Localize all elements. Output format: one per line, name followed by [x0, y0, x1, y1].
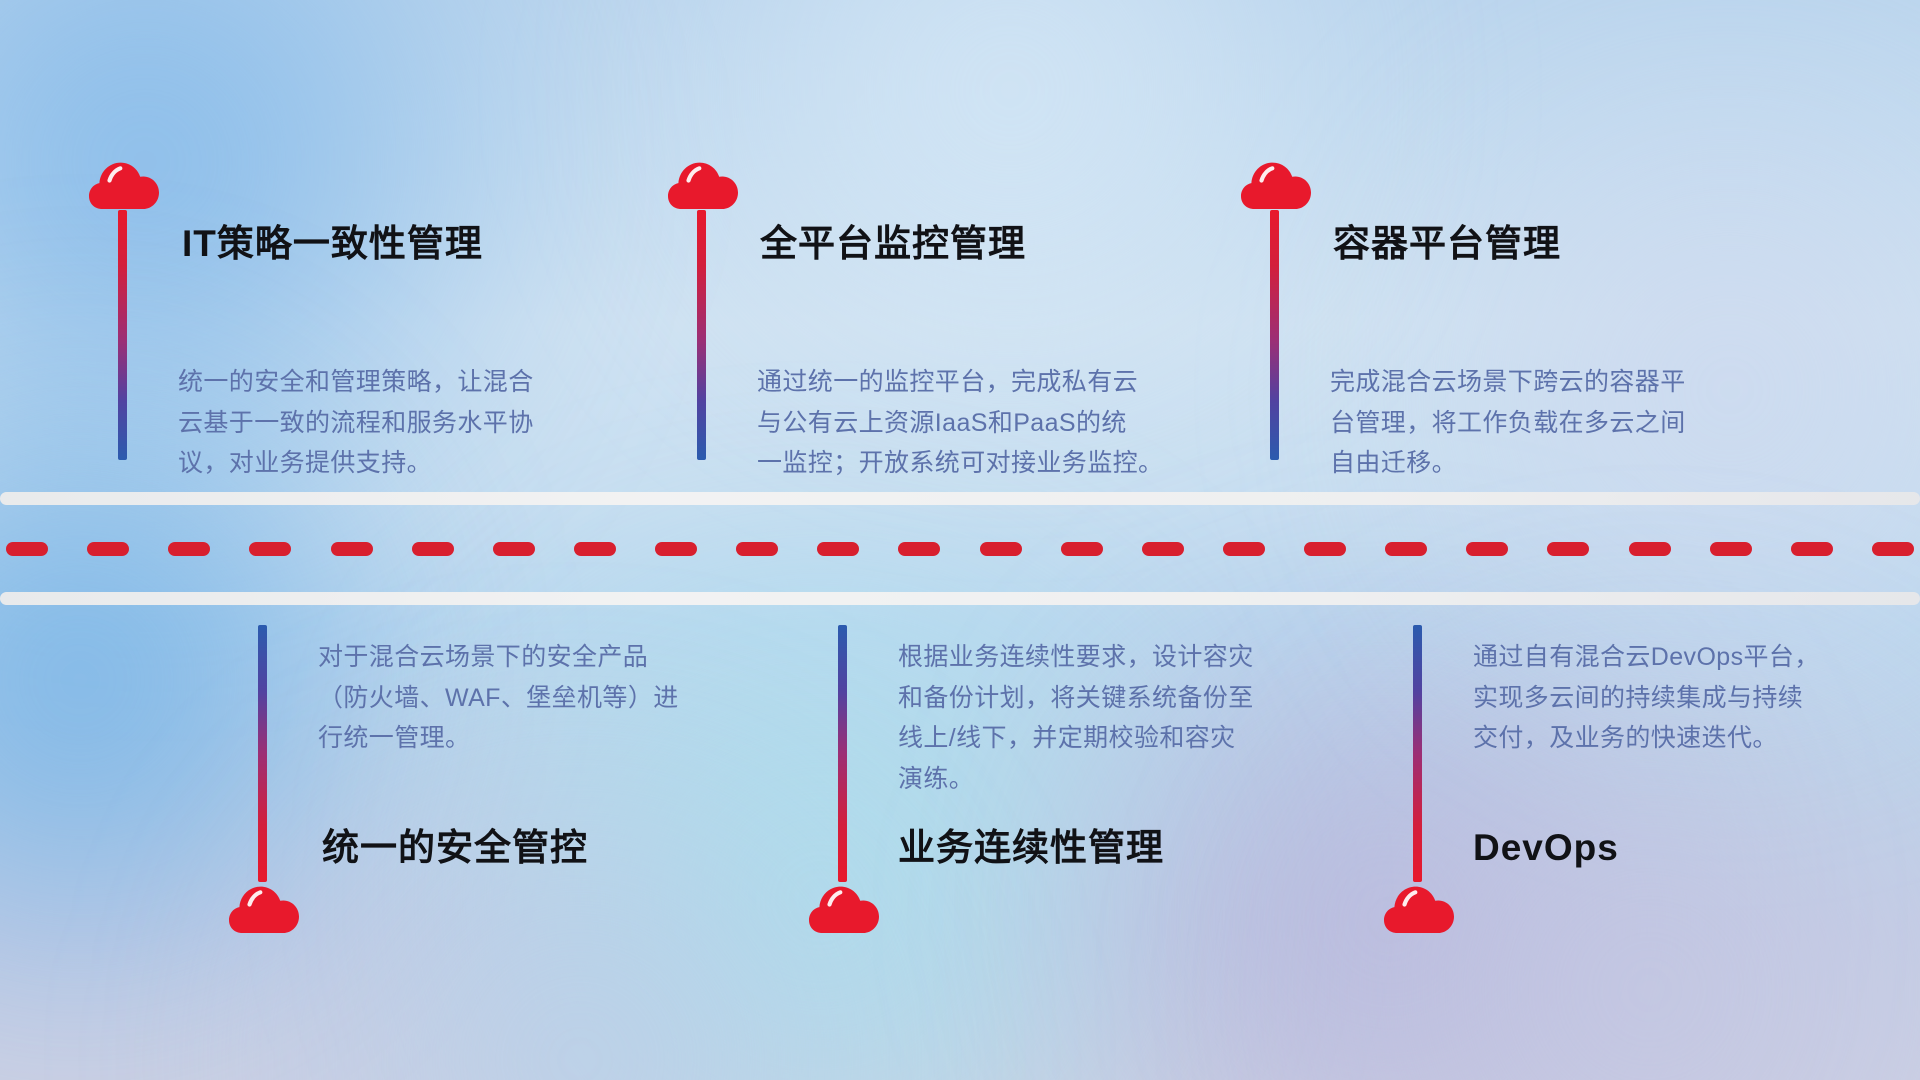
card-body-line: 完成混合云场景下跨云的容器平	[1330, 362, 1800, 403]
road-dash-icon	[331, 542, 373, 556]
cloud-pin-icon	[667, 158, 739, 210]
road-dash-icon	[1385, 542, 1427, 556]
road-dash-icon	[817, 542, 859, 556]
card-body-full-platform-monitoring: 通过统一的监控平台，完成私有云 与公有云上资源IaaS和PaaS的统 一监控；开…	[757, 362, 1227, 484]
road-dash-icon	[87, 542, 129, 556]
card-title-it-policy-consistency: IT策略一致性管理	[182, 222, 483, 266]
road-dash-icon	[736, 542, 778, 556]
card-body-line: 交付，及业务的快速迭代。	[1473, 718, 1920, 759]
card-body-line: 议，对业务提供支持。	[178, 443, 648, 484]
road-dash-icon	[1629, 542, 1671, 556]
road-dash-icon	[1547, 542, 1589, 556]
card-title-full-platform-monitoring: 全平台监控管理	[760, 222, 1026, 266]
road-edge-line-top	[0, 492, 1920, 505]
road-dash-icon	[1791, 542, 1833, 556]
card-body-line: 台管理，将工作负载在多云之间	[1330, 403, 1800, 444]
card-title-unified-security-control: 统一的安全管控	[322, 826, 588, 870]
card-body-line: （防火墙、WAF、堡垒机等）进	[318, 678, 788, 719]
road-dash-icon	[1142, 542, 1184, 556]
stem-it-policy-consistency	[118, 210, 127, 460]
card-body-line: 通过统一的监控平台，完成私有云	[757, 362, 1227, 403]
marker-it-policy-consistency	[88, 158, 160, 460]
road-dash-icon	[1304, 542, 1346, 556]
road-center-dashed-line	[0, 542, 1920, 556]
card-body-it-policy-consistency: 统一的安全和管理策略，让混合 云基于一致的流程和服务水平协 议，对业务提供支持。	[178, 362, 648, 484]
card-body-line: 云基于一致的流程和服务水平协	[178, 403, 648, 444]
road-dash-icon	[412, 542, 454, 556]
card-title-container-platform-management: 容器平台管理	[1333, 222, 1561, 266]
marker-container-platform-management	[1240, 158, 1312, 460]
marker-business-continuity-management	[808, 625, 880, 934]
stem-full-platform-monitoring	[697, 210, 706, 460]
card-body-line: 自由迁移。	[1330, 443, 1800, 484]
infographic-canvas: IT策略一致性管理 统一的安全和管理策略，让混合 云基于一致的流程和服务水平协 …	[0, 0, 1920, 1080]
road-dash-icon	[1061, 542, 1103, 556]
card-title-business-continuity-management: 业务连续性管理	[898, 826, 1164, 870]
road-dash-icon	[6, 542, 48, 556]
cloud-pin-icon	[1383, 882, 1455, 934]
card-body-line: 统一的安全和管理策略，让混合	[178, 362, 648, 403]
card-body-container-platform-management: 完成混合云场景下跨云的容器平 台管理，将工作负载在多云之间 自由迁移。	[1330, 362, 1800, 484]
card-body-line: 行统一管理。	[318, 718, 788, 759]
cloud-pin-icon	[228, 882, 300, 934]
card-body-line: 根据业务连续性要求，设计容灾	[898, 637, 1368, 678]
road-dash-icon	[574, 542, 616, 556]
marker-full-platform-monitoring	[667, 158, 739, 460]
stem-unified-security-control	[258, 625, 267, 882]
marker-unified-security-control	[228, 625, 300, 934]
cloud-pin-icon	[1240, 158, 1312, 210]
road-edge-line-bottom	[0, 592, 1920, 605]
card-body-line: 演练。	[898, 759, 1368, 800]
card-body-line: 与公有云上资源IaaS和PaaS的统	[757, 403, 1227, 444]
road-dash-icon	[1466, 542, 1508, 556]
card-body-line: 实现多云间的持续集成与持续	[1473, 678, 1920, 719]
card-body-line: 和备份计划，将关键系统备份至	[898, 678, 1368, 719]
card-title-devops: DevOps	[1473, 826, 1619, 870]
card-body-business-continuity-management: 根据业务连续性要求，设计容灾 和备份计划，将关键系统备份至 线上/线下，并定期校…	[898, 637, 1368, 799]
stem-business-continuity-management	[838, 625, 847, 882]
stem-container-platform-management	[1270, 210, 1279, 460]
marker-devops	[1383, 625, 1455, 934]
cloud-pin-icon	[88, 158, 160, 210]
road-dash-icon	[249, 542, 291, 556]
card-body-line: 通过自有混合云DevOps平台，	[1473, 637, 1920, 678]
road-dash-icon	[898, 542, 940, 556]
road-dash-icon	[1223, 542, 1265, 556]
road-dash-icon	[1710, 542, 1752, 556]
card-body-line: 线上/线下，并定期校验和容灾	[898, 718, 1368, 759]
road-dash-icon	[168, 542, 210, 556]
card-body-unified-security-control: 对于混合云场景下的安全产品 （防火墙、WAF、堡垒机等）进 行统一管理。	[318, 637, 788, 759]
road-dash-icon	[493, 542, 535, 556]
card-body-devops: 通过自有混合云DevOps平台， 实现多云间的持续集成与持续 交付，及业务的快速…	[1473, 637, 1920, 759]
stem-devops	[1413, 625, 1422, 882]
card-body-line: 一监控；开放系统可对接业务监控。	[757, 443, 1227, 484]
road-dash-icon	[980, 542, 1022, 556]
cloud-pin-icon	[808, 882, 880, 934]
road-dash-icon	[1872, 542, 1914, 556]
card-body-line: 对于混合云场景下的安全产品	[318, 637, 788, 678]
road-dash-icon	[655, 542, 697, 556]
